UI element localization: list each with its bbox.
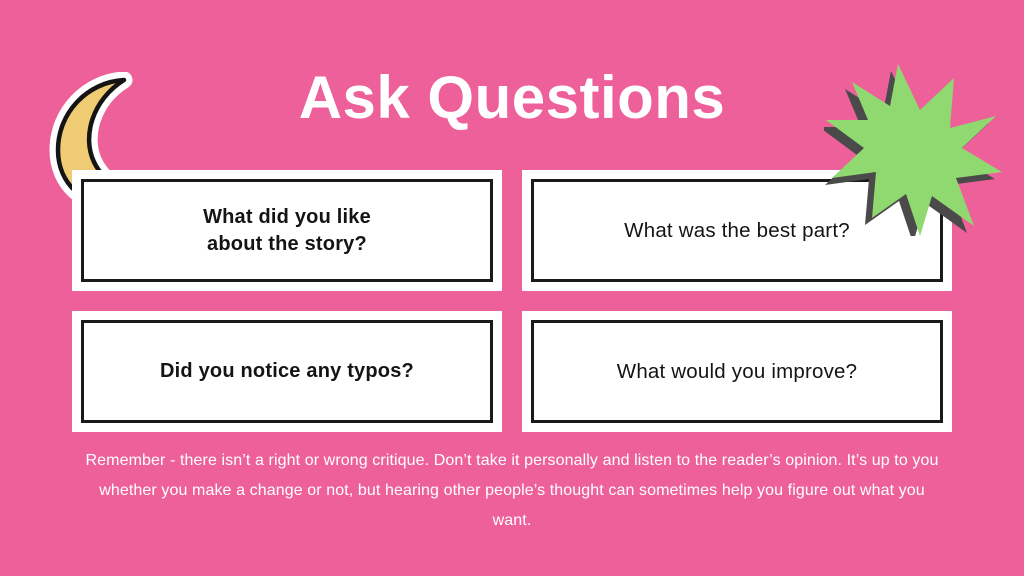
question-card-label: Did you notice any typos? (160, 358, 414, 385)
question-card-frame: What did you like about the story? (81, 179, 493, 282)
question-card[interactable]: What would you improve? (522, 311, 952, 432)
question-card-line2: about the story? (207, 233, 367, 255)
question-card[interactable]: Did you notice any typos? (72, 311, 502, 432)
page-title: Ask Questions (0, 62, 1024, 134)
question-card-label: What did you like about the story? (203, 204, 371, 258)
question-card-frame: Did you notice any typos? (81, 320, 493, 423)
question-card-frame: What would you improve? (531, 320, 943, 423)
slide-canvas: Ask Questions What did you like about th… (0, 0, 1024, 576)
question-card[interactable]: What was the best part? (522, 170, 952, 291)
question-card-label: What was the best part? (624, 217, 850, 244)
question-card-label: What would you improve? (617, 358, 857, 385)
question-card-grid: What did you like about the story? What … (72, 170, 952, 432)
question-card[interactable]: What did you like about the story? (72, 170, 502, 291)
question-card-frame: What was the best part? (531, 179, 943, 282)
footer-note: Remember - there isn’t a right or wrong … (82, 446, 942, 536)
question-card-line1: What did you like (203, 206, 371, 228)
